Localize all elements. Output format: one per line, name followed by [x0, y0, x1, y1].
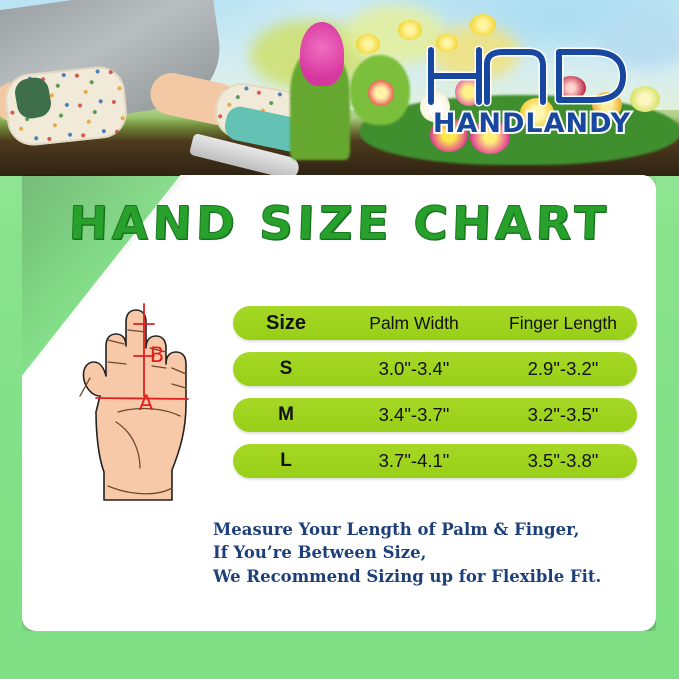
brand-name: HANDLANDY	[433, 108, 631, 137]
size-table: Size Palm Width Finger Length S 3.0"-3.4…	[233, 306, 637, 490]
photo-flower-yellow	[398, 20, 422, 40]
cell-palm: 3.7"-4.1"	[339, 450, 489, 472]
cell-palm: 3.0"-3.4"	[339, 358, 489, 380]
label-b-text: B	[150, 343, 164, 367]
cell-finger: 3.5"-3.8"	[489, 450, 637, 472]
cell-size: M	[233, 404, 339, 426]
hand-palm-diagram: A B	[40, 300, 232, 512]
column-header-finger: Finger Length	[489, 313, 637, 334]
column-header-palm: Palm Width	[339, 313, 489, 334]
page-title-text: HAND SIZE CHART	[68, 196, 611, 250]
note-line-2: If You’re Between Size,	[213, 541, 653, 564]
photo-flower-yellow	[470, 14, 496, 36]
cell-finger: 3.2"-3.5"	[489, 404, 637, 426]
photo-flower-yellow	[356, 34, 380, 54]
cell-size: L	[233, 450, 339, 472]
table-row: M 3.4"-3.7" 3.2"-3.5"	[233, 398, 637, 432]
photo-flower-pink	[300, 22, 344, 86]
column-header-size: Size	[233, 312, 339, 335]
gardening-photo-banner: HANDLANDY	[0, 0, 679, 176]
table-row: L 3.7"-4.1" 3.5"-3.8"	[233, 444, 637, 478]
label-a-text: A	[139, 391, 154, 415]
hand-size-chart-infographic: HANDLANDY HAND SIZE CHART	[0, 0, 679, 679]
cell-size: S	[233, 358, 339, 380]
cell-finger: 2.9"-3.2"	[489, 358, 637, 380]
table-header-row: Size Palm Width Finger Length	[233, 306, 637, 340]
photo-flower	[368, 80, 394, 106]
handlandy-logo: HANDLANDY	[425, 42, 640, 137]
measurement-note: Measure Your Length of Palm & Finger, If…	[213, 518, 653, 588]
note-line-1: Measure Your Length of Palm & Finger,	[213, 518, 653, 541]
cell-palm: 3.4"-3.7"	[339, 404, 489, 426]
page-title: HAND SIZE CHART	[0, 196, 679, 250]
table-row: S 3.0"-3.4" 2.9"-3.2"	[233, 352, 637, 386]
note-line-3: We Recommend Sizing up for Flexible Fit.	[213, 565, 653, 588]
